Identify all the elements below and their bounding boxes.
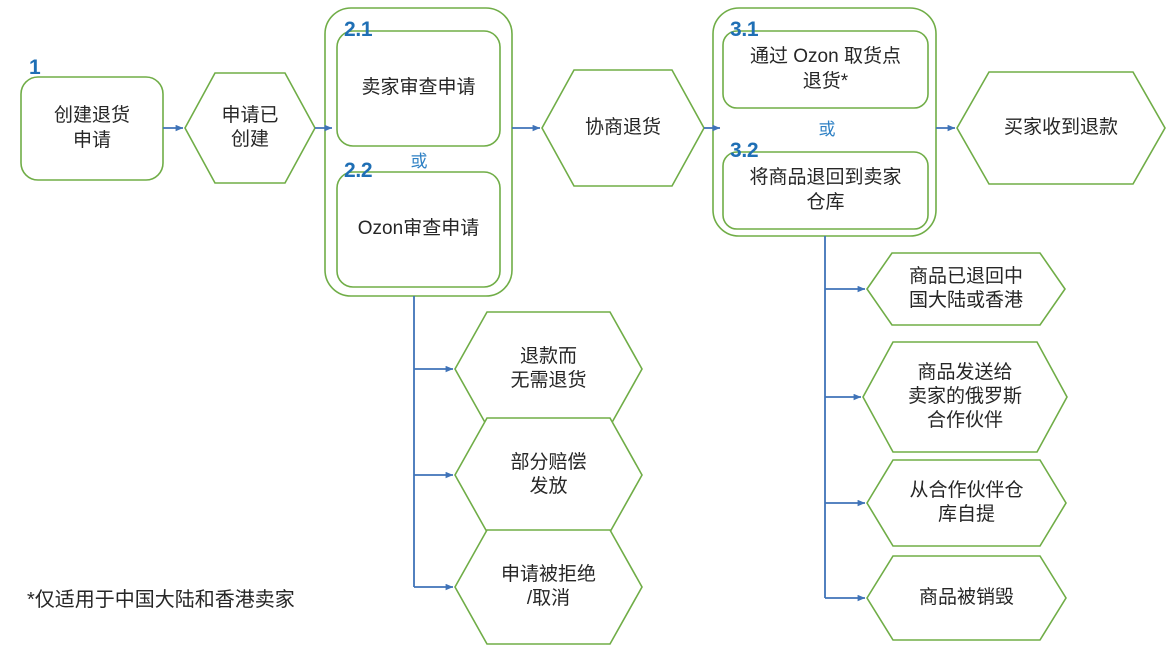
node-buyer-receives-refund-shape[interactable] [957,72,1165,184]
or-label-group-3: 或 [812,115,842,140]
node-seller-reviews-request-shape[interactable] [337,31,500,146]
node-request-rejected-cancelled-shape[interactable] [455,530,642,644]
node-goods-destroyed-shape[interactable] [867,556,1066,640]
step-number-3-1: 3.1 [730,18,758,42]
step-number-2-2: 2.2 [344,159,372,183]
step-number-1: 1 [29,56,40,80]
node-return-via-ozon-pickup-point-shape[interactable] [723,31,928,108]
diagram-canvas: 1 2.1 2.2 3.1 3.2 或 或 创建退货 申请 申请已 创建 卖家审… [0,0,1174,651]
node-goods-returned-to-china-hk-shape[interactable] [867,253,1065,325]
node-request-created-shape[interactable] [185,73,315,183]
footnote-text: *仅适用于中国大陆和香港卖家 [27,583,295,612]
diagram-shapes-layer [0,0,1174,651]
node-negotiate-return-shape[interactable] [542,70,704,186]
or-label-group-2: 或 [404,147,434,172]
node-pickup-from-partner-warehouse-shape[interactable] [867,460,1066,546]
node-partial-compensation-issued-shape[interactable] [455,418,642,532]
node-ozon-reviews-request-shape[interactable] [337,172,500,287]
node-return-to-seller-warehouse-shape[interactable] [723,152,928,229]
step-number-3-2: 3.2 [730,139,758,163]
step-number-2-1: 2.1 [344,18,372,42]
node-create-return-request-shape[interactable] [21,77,163,180]
node-refund-without-return-shape[interactable] [455,312,642,426]
node-goods-sent-to-russia-partner-shape[interactable] [863,342,1067,452]
